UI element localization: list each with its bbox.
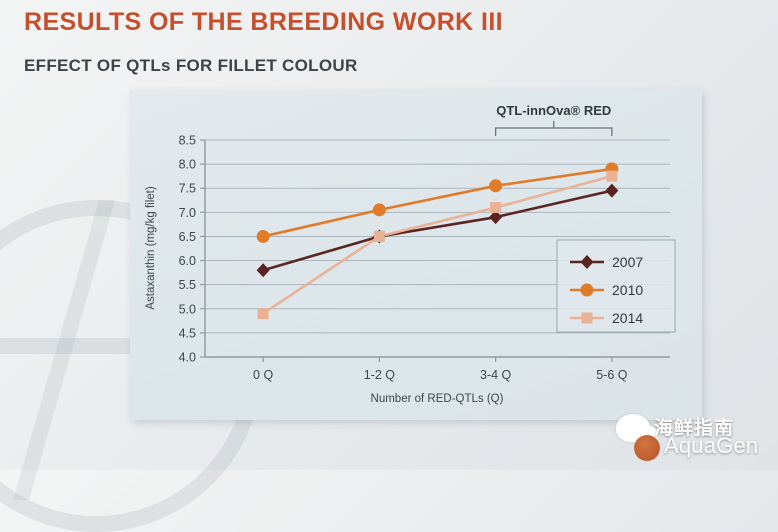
data-point-2014-0Q[interactable] (258, 308, 269, 319)
x-tick-label: 1-2 Q (364, 368, 396, 382)
x-axis-title: Number of RED-QTLs (Q) (371, 393, 504, 405)
y-tick-label: 6.0 (179, 254, 196, 268)
x-axis-ticks: 0 Q1-2 Q3-4 Q5-6 Q (253, 357, 628, 382)
y-tick-label: 5.5 (179, 278, 196, 292)
line-chart: 4.04.55.05.56.06.57.07.58.08.5 0 Q1-2 Q3… (130, 90, 702, 420)
y-tick-label: 5.0 (179, 302, 196, 316)
y-tick-label: 4.0 (179, 351, 196, 365)
data-point-2007-5-6Q[interactable] (605, 184, 618, 198)
y-tick-label: 8.0 (179, 158, 196, 172)
chart-card: 4.04.55.05.56.06.57.07.58.08.5 0 Q1-2 Q3… (130, 90, 702, 420)
y-tick-label: 7.0 (179, 206, 196, 220)
legend-label-2010[interactable]: 2010 (612, 282, 643, 298)
legend-marker-2014 (582, 313, 593, 324)
x-tick-label: 5-6 Q (596, 368, 628, 382)
data-point-2007-0Q[interactable] (257, 263, 270, 277)
data-point-2010-0Q[interactable] (257, 230, 270, 243)
legend-marker-2010 (581, 284, 594, 297)
legend-label-2007[interactable]: 2007 (612, 254, 643, 270)
data-point-2014-1-2Q[interactable] (374, 231, 385, 242)
y-axis-ticks: 4.04.55.05.56.06.57.07.58.08.5 (179, 134, 205, 365)
y-tick-label: 7.5 (179, 182, 196, 196)
chart-legend[interactable]: 200720102014 (557, 240, 675, 332)
data-point-2014-3-4Q[interactable] (490, 202, 501, 213)
page-title: RESULTS OF THE BREEDING WORK III (24, 8, 503, 37)
aquagen-logo-icon (634, 435, 660, 461)
y-tick-label: 6.5 (179, 230, 196, 244)
branding-logos: 海鲜指南 AquaGen (598, 408, 770, 464)
qtl-innova-annotation-label: QTL-innOva® RED (496, 103, 611, 118)
y-tick-label: 4.5 (179, 326, 196, 340)
aquagen-company-name: AquaGen (664, 433, 758, 459)
data-point-2014-5-6Q[interactable] (606, 171, 617, 182)
qtl-innova-brace-icon (496, 121, 612, 136)
y-tick-label: 8.5 (179, 134, 196, 148)
x-tick-label: 3-4 Q (480, 368, 512, 382)
chart-svg: 4.04.55.05.56.06.57.07.58.08.5 0 Q1-2 Q3… (130, 90, 702, 420)
x-tick-label: 0 Q (253, 368, 273, 382)
data-point-2010-1-2Q[interactable] (373, 203, 386, 216)
data-point-2010-3-4Q[interactable] (489, 179, 502, 192)
y-axis-title: Astaxanthin (mg/kg filet) (145, 186, 157, 310)
page-subtitle: EFFECT OF QTLs FOR FILLET COLOUR (24, 56, 358, 76)
legend-label-2014[interactable]: 2014 (612, 310, 643, 326)
